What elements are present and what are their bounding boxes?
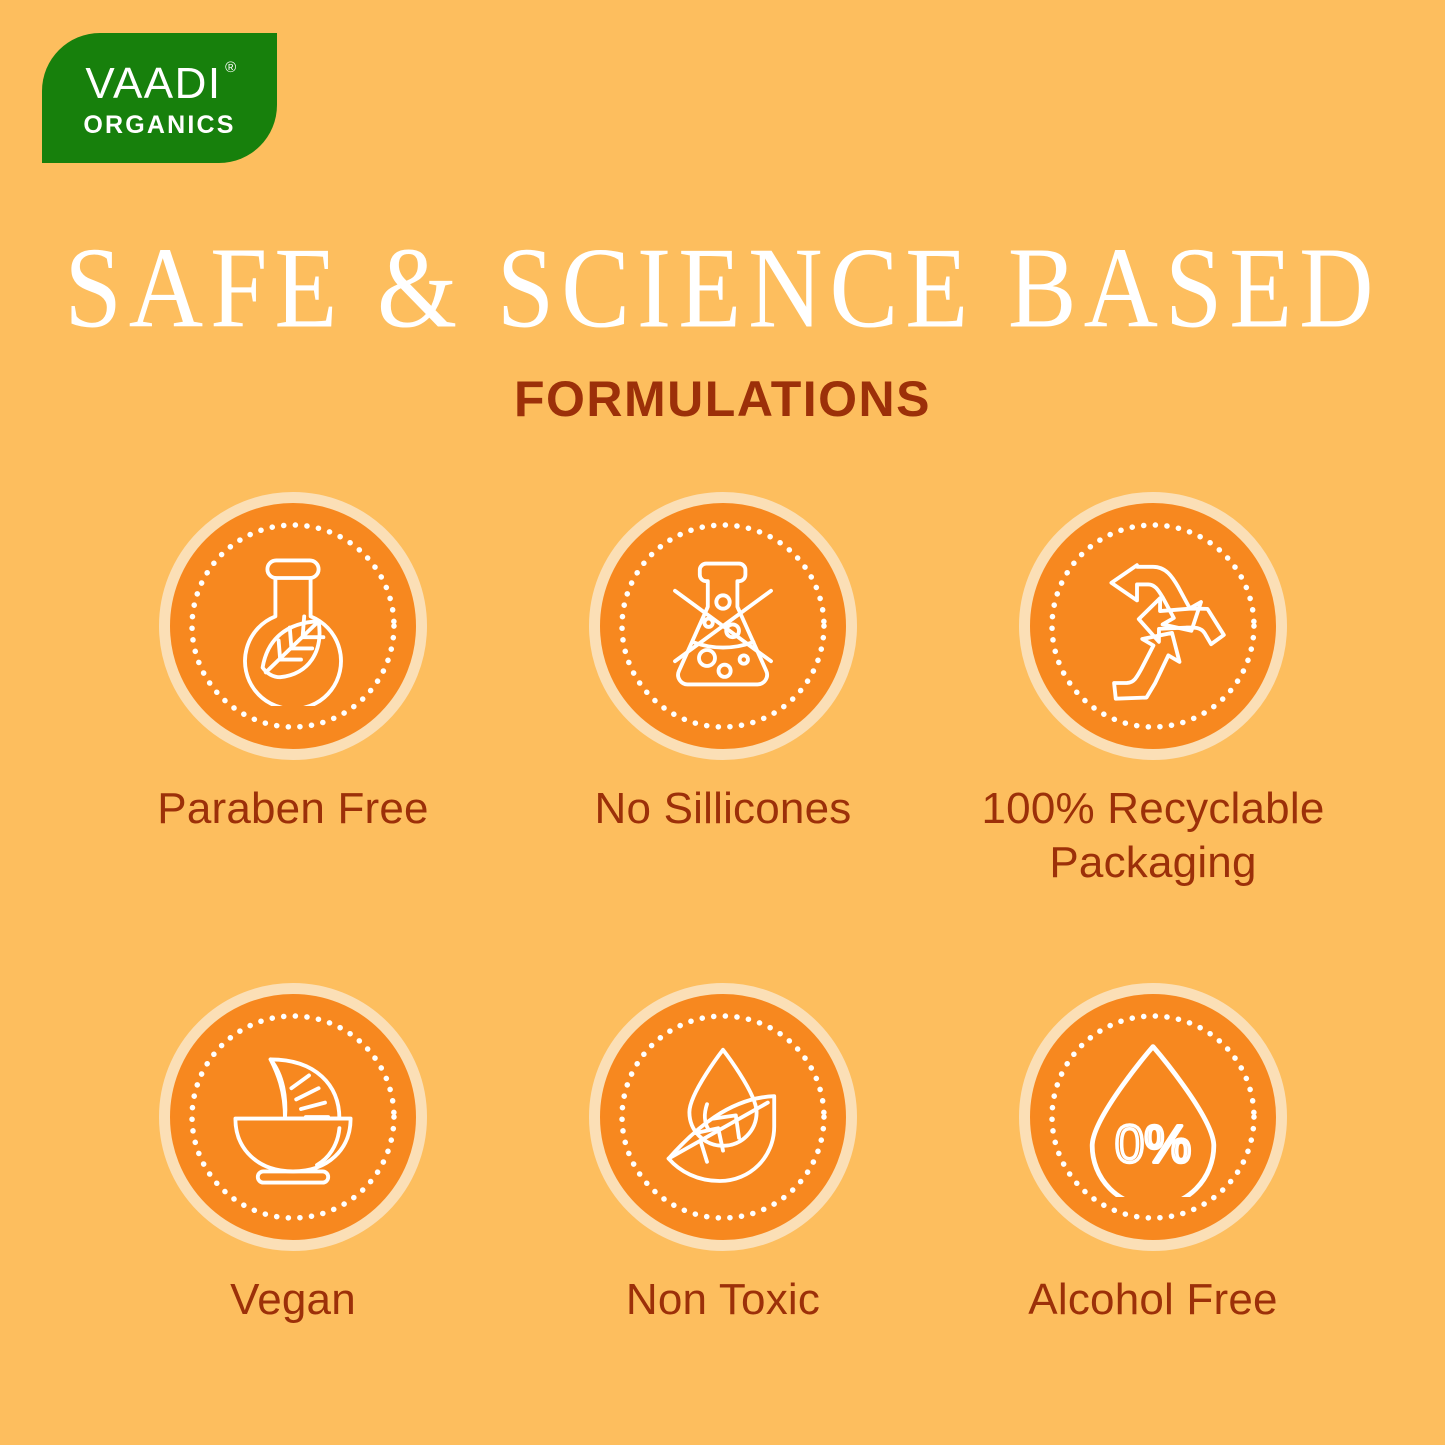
brand-name-text: VAADI	[85, 59, 221, 108]
feature-label: No Sillicones	[595, 782, 852, 836]
feature-label-line: 100% Recyclable	[982, 782, 1325, 836]
feature-label: Non Toxic	[626, 1273, 820, 1327]
feature-label: Alcohol Free	[1028, 1273, 1277, 1327]
feature-label: Paraben Free	[157, 782, 428, 836]
bowl-with-leaf-icon	[213, 1037, 373, 1197]
feature-badge	[159, 983, 427, 1251]
brand-logo[interactable]: VAADI® ORGANICS	[42, 33, 277, 163]
feature-grid: Paraben Free	[78, 492, 1368, 1327]
feature-label: 100% Recyclable Packaging	[982, 782, 1325, 889]
feature-item-paraben-free[interactable]: Paraben Free	[78, 492, 508, 889]
feature-item-no-sillicones[interactable]: No Sillicones	[508, 492, 938, 889]
recycle-icon	[1073, 546, 1233, 706]
crossed-out-flask-icon	[643, 546, 803, 706]
brand-name: VAADI®	[85, 62, 233, 106]
page-subtitle: FORMULATIONS	[0, 374, 1445, 424]
brand-tagline: ORGANICS	[83, 113, 235, 138]
feature-label: Vegan	[230, 1273, 356, 1327]
droplet-on-leaf-icon	[643, 1037, 803, 1197]
feature-item-recyclable-packaging[interactable]: 100% Recyclable Packaging	[938, 492, 1368, 889]
zero-percent-text: 0%	[1115, 1115, 1191, 1174]
feature-item-alcohol-free[interactable]: 0% Alcohol Free	[938, 983, 1368, 1327]
feature-item-non-toxic[interactable]: Non Toxic	[508, 983, 938, 1327]
feature-badge	[1019, 492, 1287, 760]
flask-with-leaf-icon	[213, 546, 373, 706]
feature-badge	[589, 492, 857, 760]
feature-item-vegan[interactable]: Vegan	[78, 983, 508, 1327]
feature-badge	[159, 492, 427, 760]
droplet-zero-percent-icon: 0%	[1073, 1037, 1233, 1197]
feature-badge	[589, 983, 857, 1251]
page-title: SAFE & SCIENCE BASED	[0, 228, 1445, 349]
feature-badge: 0%	[1019, 983, 1287, 1251]
feature-label-line: Packaging	[982, 836, 1325, 890]
registered-trademark-icon: ®	[225, 60, 238, 75]
